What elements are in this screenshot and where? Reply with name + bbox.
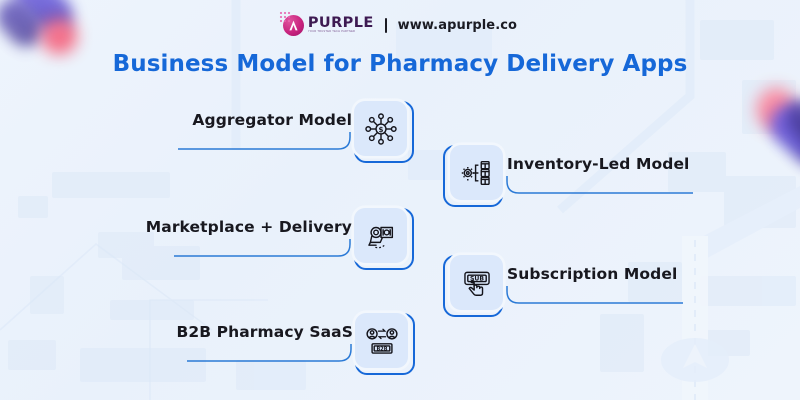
pill-capsule-right (762, 97, 800, 175)
model-card-subscription[interactable]: SUB (443, 255, 503, 317)
delivery-scooter-money-icon (364, 219, 398, 253)
card-inner: B2B (355, 313, 408, 368)
header-separator (385, 18, 387, 33)
model-label-block-marketplace: Marketplace + Delivery (140, 213, 354, 265)
model-card-marketplace[interactable] (354, 208, 414, 270)
model-label-aggregator: Aggregator Model (178, 111, 354, 129)
connector-subscription (503, 286, 693, 308)
b2b-users-exchange-icon: B2B (365, 324, 399, 358)
logo-word: PURPLE (308, 16, 374, 31)
model-label-subscription: Subscription Model (503, 265, 693, 283)
model-row-b2b[interactable]: B2B Pharmacy SaaS (163, 308, 415, 380)
logo-tagline: YOUR TRUSTED TECH PARTNER (308, 31, 374, 34)
model-row-aggregator[interactable]: Aggregator Model $ (178, 96, 414, 168)
connector-aggregator (178, 132, 354, 154)
svg-text:B2B: B2B (376, 346, 387, 352)
model-label-b2b: B2B Pharmacy SaaS (163, 323, 355, 341)
model-row-subscription[interactable]: SUB Subscription Model (443, 250, 693, 322)
model-label-block-b2b: B2B Pharmacy SaaS (163, 318, 355, 370)
infographic-canvas: PURPLE YOUR TRUSTED TECH PARTNER www.apu… (0, 0, 800, 400)
model-row-inventory[interactable]: Inventory-Led Model (443, 140, 693, 212)
apurple-logo-icon (283, 15, 304, 36)
connector-b2b (163, 344, 355, 366)
gear-inventory-boxes-icon (460, 156, 494, 190)
model-label-block-aggregator: Aggregator Model (178, 106, 354, 158)
model-card-b2b[interactable]: B2B (355, 313, 415, 375)
sub-button-click-icon: SUB (460, 266, 494, 300)
card-inner (450, 145, 503, 200)
page-title: Business Model for Pharmacy Delivery App… (0, 51, 800, 77)
card-inner: $ (354, 101, 407, 156)
website-url[interactable]: www.apurple.co (398, 18, 517, 33)
pink-blob-right (757, 88, 795, 130)
card-inner: SUB (450, 255, 503, 310)
model-label-marketplace: Marketplace + Delivery (140, 218, 354, 236)
card-inner (354, 208, 407, 263)
logo-wordmark: PURPLE YOUR TRUSTED TECH PARTNER (308, 16, 374, 34)
model-label-inventory: Inventory-Led Model (503, 155, 693, 173)
model-row-marketplace[interactable]: Marketplace + Delivery (140, 203, 414, 275)
model-card-inventory[interactable] (443, 145, 503, 207)
header: PURPLE YOUR TRUSTED TECH PARTNER www.apu… (0, 12, 800, 38)
apurple-logo[interactable]: PURPLE YOUR TRUSTED TECH PARTNER (283, 15, 374, 36)
model-label-block-inventory: Inventory-Led Model (503, 150, 693, 202)
connector-inventory (503, 176, 693, 198)
svg-text:$: $ (378, 124, 383, 133)
connector-marketplace (140, 239, 354, 261)
model-card-aggregator[interactable]: $ (354, 101, 414, 163)
pill-capsule-right-shadow (779, 92, 800, 149)
network-hub-dollar-icon: $ (364, 112, 398, 146)
model-label-block-subscription: Subscription Model (503, 260, 693, 312)
